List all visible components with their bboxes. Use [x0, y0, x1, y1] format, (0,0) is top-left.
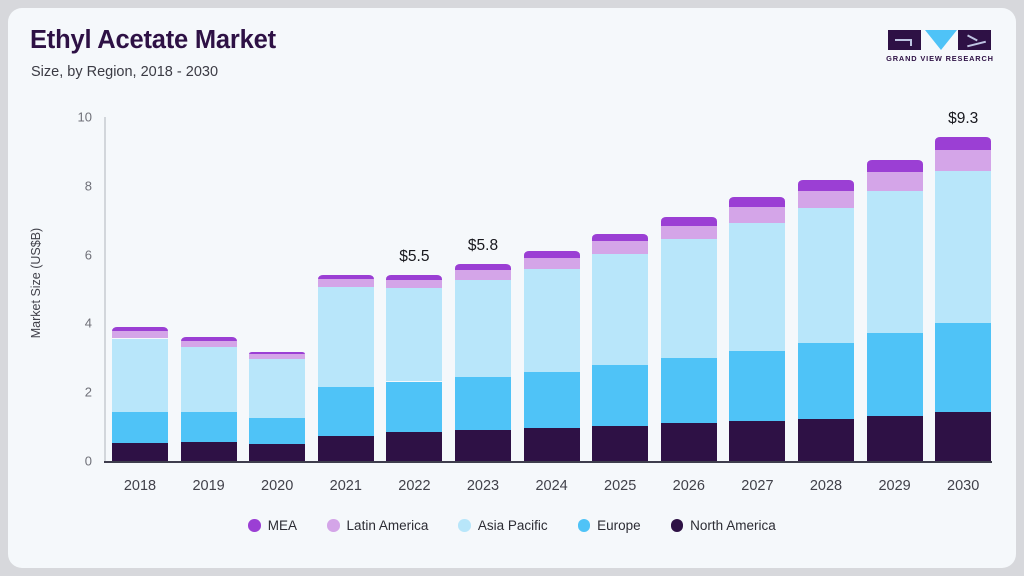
bar-segment-2021-north-america[interactable]	[318, 435, 374, 461]
bar-segment-2024-north-america[interactable]	[524, 427, 580, 461]
bar-segment-2029-europe[interactable]	[867, 332, 923, 416]
bar-segment-2025-latin-america[interactable]	[592, 240, 648, 253]
bar-2030[interactable]: $9.3	[935, 117, 991, 461]
bar-segment-2020-mea[interactable]	[249, 351, 305, 354]
bar-segment-2027-mea[interactable]	[729, 196, 785, 207]
bar-2026[interactable]	[661, 117, 717, 461]
bar-2020[interactable]	[249, 117, 305, 461]
bar-segment-2022-latin-america[interactable]	[386, 279, 442, 289]
bar-segment-2026-europe[interactable]	[661, 357, 717, 423]
bar-segment-2023-asia-pacific[interactable]	[455, 279, 511, 377]
legend-swatch-icon	[671, 519, 684, 532]
bar-segment-2023-latin-america[interactable]	[455, 269, 511, 280]
legend-item-europe[interactable]: Europe	[578, 518, 641, 533]
bar-segment-2025-europe[interactable]	[592, 364, 648, 425]
bar-segment-2029-latin-america[interactable]	[867, 171, 923, 191]
y-axis-tick-1: 2	[52, 385, 92, 400]
bar-segment-2019-mea[interactable]	[181, 336, 237, 340]
bar-2027[interactable]	[729, 117, 785, 461]
bar-segment-2021-latin-america[interactable]	[318, 278, 374, 287]
legend-item-north-america[interactable]: North America	[671, 518, 776, 533]
bar-segment-2024-europe[interactable]	[524, 371, 580, 428]
bar-segment-2021-europe[interactable]	[318, 386, 374, 436]
bar-segment-2030-mea[interactable]	[935, 136, 991, 150]
y-axis-tick-4: 8	[52, 178, 92, 193]
legend-swatch-icon	[327, 519, 340, 532]
bar-segment-2022-asia-pacific[interactable]	[386, 287, 442, 381]
bar-segment-2027-asia-pacific[interactable]	[729, 222, 785, 351]
bar-segment-2018-latin-america[interactable]	[112, 330, 168, 339]
bar-segment-2019-north-america[interactable]	[181, 441, 237, 461]
bar-segment-2024-asia-pacific[interactable]	[524, 268, 580, 372]
bar-segment-2018-mea[interactable]	[112, 326, 168, 331]
bar-segment-2019-europe[interactable]	[181, 411, 237, 442]
bar-segment-2021-asia-pacific[interactable]	[318, 286, 374, 387]
bar-segment-2022-north-america[interactable]	[386, 431, 442, 461]
y-axis-tick-3: 6	[52, 247, 92, 262]
legend-item-latin-america[interactable]: Latin America	[327, 518, 428, 533]
bar-segment-2025-asia-pacific[interactable]	[592, 253, 648, 365]
bar-segment-2026-north-america[interactable]	[661, 422, 717, 461]
bar-segment-2022-mea[interactable]	[386, 274, 442, 280]
y-axis-tick-5: 10	[52, 110, 92, 125]
y-axis-tick-2: 4	[52, 316, 92, 331]
legend-label: Latin America	[347, 518, 429, 533]
bar-2025[interactable]	[592, 117, 648, 461]
bar-segment-2019-latin-america[interactable]	[181, 340, 237, 347]
bar-segment-2021-mea[interactable]	[318, 274, 374, 279]
y-axis-label: Market Size (US$B)	[29, 203, 43, 363]
bar-2028[interactable]	[798, 117, 854, 461]
bar-segment-2020-north-america[interactable]	[249, 443, 305, 461]
y-axis-line	[104, 117, 106, 462]
bar-segment-2019-asia-pacific[interactable]	[181, 346, 237, 412]
bar-segment-2030-asia-pacific[interactable]	[935, 170, 991, 323]
bar-segment-2020-asia-pacific[interactable]	[249, 358, 305, 419]
bar-segment-2030-north-america[interactable]	[935, 411, 991, 461]
bar-2029[interactable]	[867, 117, 923, 461]
bar-segment-2028-latin-america[interactable]	[798, 190, 854, 208]
bar-segment-2025-north-america[interactable]	[592, 425, 648, 461]
legend-label: Asia Pacific	[478, 518, 548, 533]
bar-segment-2026-latin-america[interactable]	[661, 225, 717, 240]
bar-2024[interactable]	[524, 117, 580, 461]
bar-segment-2028-europe[interactable]	[798, 342, 854, 419]
bar-segment-2027-north-america[interactable]	[729, 420, 785, 461]
bar-2023[interactable]: $5.8	[455, 117, 511, 461]
bar-segment-2028-asia-pacific[interactable]	[798, 207, 854, 343]
bar-segment-2026-asia-pacific[interactable]	[661, 238, 717, 358]
legend-item-mea[interactable]: MEA	[248, 518, 297, 533]
bar-segment-2028-mea[interactable]	[798, 179, 854, 191]
bar-2021[interactable]	[318, 117, 374, 461]
y-axis-tick-0: 0	[52, 454, 92, 469]
legend-swatch-icon	[248, 519, 261, 532]
bar-segment-2027-latin-america[interactable]	[729, 206, 785, 222]
bar-segment-2023-europe[interactable]	[455, 376, 511, 430]
chart-legend: MEALatin AmericaAsia PacificEuropeNorth …	[8, 518, 1016, 533]
legend-label: North America	[690, 518, 776, 533]
bar-segment-2022-europe[interactable]	[386, 381, 442, 432]
bar-2019[interactable]	[181, 117, 237, 461]
bar-segment-2023-north-america[interactable]	[455, 429, 511, 461]
bar-segment-2027-europe[interactable]	[729, 350, 785, 421]
bar-segment-2029-asia-pacific[interactable]	[867, 190, 923, 333]
bar-2022[interactable]: $5.5	[386, 117, 442, 461]
bar-segment-2030-latin-america[interactable]	[935, 149, 991, 171]
bar-value-label-2030: $9.3	[903, 110, 1016, 128]
bar-segment-2018-europe[interactable]	[112, 411, 168, 443]
x-axis-line	[104, 461, 992, 463]
bar-segment-2029-mea[interactable]	[867, 159, 923, 172]
bar-chart: Market Size (US$B) 0246810 $5.5$5.8$9.3 …	[8, 8, 1016, 568]
legend-swatch-icon	[578, 519, 591, 532]
legend-label: MEA	[268, 518, 297, 533]
bar-segment-2028-north-america[interactable]	[798, 418, 854, 461]
bar-segment-2020-europe[interactable]	[249, 417, 305, 444]
bar-segment-2030-europe[interactable]	[935, 322, 991, 412]
bar-segment-2018-asia-pacific[interactable]	[112, 338, 168, 412]
legend-label: Europe	[597, 518, 641, 533]
bar-segment-2018-north-america[interactable]	[112, 442, 168, 461]
bar-segment-2024-mea[interactable]	[524, 250, 580, 258]
legend-item-asia-pacific[interactable]: Asia Pacific	[458, 518, 547, 533]
bar-segment-2025-mea[interactable]	[592, 233, 648, 242]
bar-segment-2023-mea[interactable]	[455, 263, 511, 270]
bar-segment-2026-mea[interactable]	[661, 216, 717, 226]
chart-card: Ethyl Acetate Market Size, by Region, 20…	[8, 8, 1016, 568]
bar-2018[interactable]	[112, 117, 168, 461]
bar-segment-2029-north-america[interactable]	[867, 415, 923, 461]
x-axis-tick-2030: 2030	[903, 478, 1016, 494]
bar-segment-2024-latin-america[interactable]	[524, 257, 580, 269]
legend-swatch-icon	[458, 519, 471, 532]
